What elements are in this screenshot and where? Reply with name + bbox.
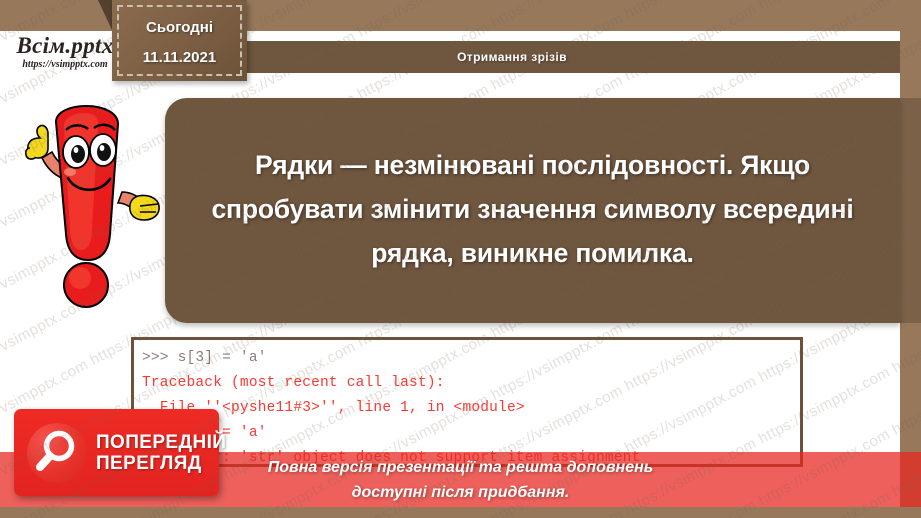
slide-canvas: Всім.pptx https://vsimpptx.com Сьогодні …: [0, 0, 921, 518]
code-output-block: >>> s[3] = 'a' Traceback (most recent ca…: [131, 337, 803, 467]
statement-panel: Рядки — незмінювані послідовності. Якщо …: [165, 98, 900, 323]
code-line: s[3] = 'a': [142, 421, 800, 446]
preview-stamp-line-1: ПОПЕРЕДНІЙ: [96, 432, 226, 453]
purchase-banner-line-1: Повна версія презентації та решта доповн…: [268, 455, 654, 480]
brand-logo: Всім.pptx https://vsimpptx.com: [6, 33, 124, 77]
code-line: Traceback (most recent call last):: [142, 371, 800, 396]
magnifier-icon: [27, 423, 87, 483]
date-badge-text: Сьогодні 11.11.2021: [112, 13, 247, 73]
date-badge: Сьогодні 11.11.2021: [112, 0, 247, 81]
exclamation-mark-character-icon: [18, 100, 168, 325]
date-badge-fold-decoration: [98, 0, 112, 30]
preview-stamp-label: ПОПЕРЕДНІЙ ПЕРЕГЛЯД: [96, 432, 226, 474]
code-line: >>> s[3] = 'a': [142, 346, 800, 371]
purchase-banner-line-2: доступні після придбання.: [352, 480, 570, 505]
preview-stamp-badge[interactable]: ПОПЕРЕДНІЙ ПЕРЕГЛЯД: [14, 409, 219, 496]
bottom-brown-strip: [0, 507, 921, 518]
date-badge-date: 11.11.2021: [112, 43, 247, 73]
code-line: File ''<pyshe11#3>'', line 1, in <module…: [142, 396, 800, 421]
brand-logo-name: Всім.pptx: [6, 33, 124, 59]
date-badge-label: Сьогодні: [112, 13, 247, 43]
brand-logo-url: https://vsimpptx.com: [6, 59, 124, 71]
page-title: Отримання зрізів: [457, 50, 567, 64]
statement-text: Рядки — незмінювані послідовності. Якщо …: [193, 143, 872, 275]
preview-stamp-line-2: ПЕРЕГЛЯД: [96, 453, 226, 474]
